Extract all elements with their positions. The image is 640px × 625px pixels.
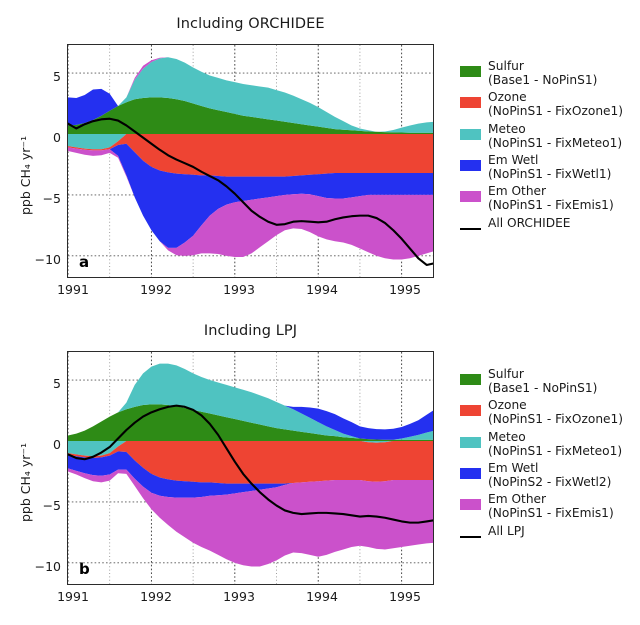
legend-color-swatch	[460, 468, 481, 479]
y-tick-label: 5	[21, 376, 61, 391]
y-tick-label: 5	[21, 69, 61, 84]
legend-item[interactable]: Em Wetl (NoPinS2 - FixWetl2)	[460, 462, 623, 490]
legend-label: Ozone (NoPinS1 - FixOzone1)	[488, 399, 623, 427]
legend-line-swatch	[460, 228, 481, 230]
legend-label: Meteo (NoPinS1 - FixMeteo1)	[488, 431, 622, 459]
panel-a-letter: a	[79, 253, 89, 271]
legend-label: All LPJ	[488, 525, 525, 539]
legend-item[interactable]: Meteo (NoPinS1 - FixMeteo1)	[460, 431, 623, 459]
legend-label: Sulfur (Base1 - NoPinS1)	[488, 368, 597, 396]
legend-label: Meteo (NoPinS1 - FixMeteo1)	[488, 123, 622, 151]
x-tick-label: 1992	[121, 282, 191, 297]
x-tick-label: 1993	[204, 282, 274, 297]
legend-line-swatch	[460, 536, 481, 538]
legend-item[interactable]: Em Wetl (NoPinS1 - FixWetl1)	[460, 154, 623, 182]
legend-label: All ORCHIDEE	[488, 217, 571, 231]
panel-b-plot-area	[67, 351, 434, 585]
figure-root: Including ORCHIDEE ppb CH₄ yr⁻¹ 5 0 −5 −…	[0, 0, 640, 625]
legend-color-swatch	[460, 191, 481, 202]
panel-a-title: Including ORCHIDEE	[67, 16, 434, 32]
x-tick-label: 1991	[38, 282, 108, 297]
legend-color-swatch	[460, 97, 481, 108]
panel-b-y-ticks: 5 0 −5 −10	[15, 351, 61, 585]
y-tick-label: −10	[21, 559, 61, 574]
legend-item[interactable]: Ozone (NoPinS1 - FixOzone1)	[460, 399, 623, 427]
panel-a: Including ORCHIDEE ppb CH₄ yr⁻¹ 5 0 −5 −…	[0, 0, 640, 312]
legend-color-swatch	[460, 66, 481, 77]
x-tick-label: 1992	[121, 589, 191, 604]
x-tick-label: 1995	[370, 282, 440, 297]
panel-b-legend: Sulfur (Base1 - NoPinS1)Ozone (NoPinS1 -…	[460, 368, 623, 542]
y-tick-label: −10	[21, 252, 61, 267]
x-tick-label: 1991	[38, 589, 108, 604]
x-tick-label: 1994	[287, 589, 357, 604]
y-tick-label: 0	[21, 437, 61, 452]
panel-b-title: Including LPJ	[67, 323, 434, 339]
legend-item[interactable]: All ORCHIDEE	[460, 217, 623, 231]
stacked-bands	[68, 57, 434, 259]
legend-item[interactable]: Meteo (NoPinS1 - FixMeteo1)	[460, 123, 623, 151]
y-tick-label: −5	[21, 498, 61, 513]
legend-item[interactable]: Ozone (NoPinS1 - FixOzone1)	[460, 91, 623, 119]
y-tick-label: −5	[21, 191, 61, 206]
legend-label: Em Other (NoPinS1 - FixEmis1)	[488, 493, 614, 521]
stacked-bands	[68, 364, 434, 567]
legend-item[interactable]: Sulfur (Base1 - NoPinS1)	[460, 368, 623, 396]
panel-a-y-ticks: 5 0 −5 −10	[15, 44, 61, 278]
legend-color-swatch	[460, 160, 481, 171]
panel-b: Including LPJ ppb CH₄ yr⁻¹ 5 0 −5 −10 b …	[0, 313, 640, 625]
panel-b-letter: b	[79, 560, 90, 578]
legend-label: Sulfur (Base1 - NoPinS1)	[488, 60, 597, 88]
panel-a-legend: Sulfur (Base1 - NoPinS1)Ozone (NoPinS1 -…	[460, 60, 623, 234]
legend-label: Em Other (NoPinS1 - FixEmis1)	[488, 185, 614, 213]
y-tick-label: 0	[21, 130, 61, 145]
legend-color-swatch	[460, 405, 481, 416]
legend-item[interactable]: All LPJ	[460, 525, 623, 539]
panel-b-x-ticks: 1991 1992 1993 1994 1995	[67, 589, 434, 609]
legend-item[interactable]: Em Other (NoPinS1 - FixEmis1)	[460, 185, 623, 213]
legend-label: Em Wetl (NoPinS1 - FixWetl1)	[488, 154, 611, 182]
x-tick-label: 1993	[204, 589, 274, 604]
x-tick-label: 1994	[287, 282, 357, 297]
legend-label: Ozone (NoPinS1 - FixOzone1)	[488, 91, 623, 119]
legend-color-swatch	[460, 499, 481, 510]
legend-item[interactable]: Sulfur (Base1 - NoPinS1)	[460, 60, 623, 88]
legend-label: Em Wetl (NoPinS2 - FixWetl2)	[488, 462, 611, 490]
legend-item[interactable]: Em Other (NoPinS1 - FixEmis1)	[460, 493, 623, 521]
x-tick-label: 1995	[370, 589, 440, 604]
legend-color-swatch	[460, 129, 481, 140]
panel-a-x-ticks: 1991 1992 1993 1994 1995	[67, 282, 434, 302]
legend-color-swatch	[460, 374, 481, 385]
panel-a-plot-area	[67, 44, 434, 278]
legend-color-swatch	[460, 437, 481, 448]
